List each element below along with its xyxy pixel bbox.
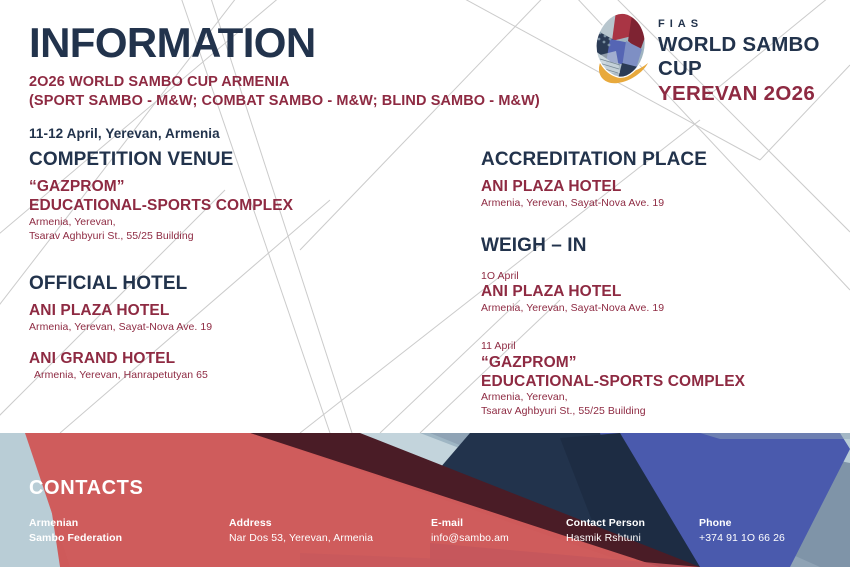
venue-address-line1: Armenia, Yerevan,: [29, 216, 449, 230]
footer-email-label: E-mail: [431, 516, 509, 531]
footer-address-label: Address: [229, 516, 373, 531]
footer-org-line2: Sambo Federation: [29, 531, 122, 546]
hotel-1-name: ANI PLAZA HOTEL: [29, 302, 449, 321]
poster-canvas: INFORMATION 2O26 WORLD SAMBO CUP ARMENIA…: [0, 0, 850, 567]
venue-name-line1: “GAZPROM”: [29, 178, 449, 197]
weigh-in-day2-label: 11 April: [481, 340, 821, 354]
official-hotel-heading: OFFICIAL HOTEL: [29, 274, 449, 295]
logo-text-block: FIAS WORLD SAMBO CUP YEREVAN 2O26: [658, 19, 844, 107]
event-date: 11-12 April, Yerevan, Armenia: [29, 126, 540, 141]
footer-org-block: Armenian Sambo Federation: [29, 516, 122, 546]
weigh-in-day1-address: Armenia, Yerevan, Sayat-Nova Ave. 19: [481, 302, 821, 316]
event-subtitle-line2: (SPORT SAMBO - M&W; COMBAT SAMBO - M&W; …: [29, 92, 540, 111]
footer-org-line1: Armenian: [29, 516, 122, 531]
footer-phone-label: Phone: [699, 516, 785, 531]
contacts-title: CONTACTS: [29, 477, 143, 500]
accreditation-address: Armenia, Yerevan, Sayat-Nova Ave. 19: [481, 197, 821, 211]
header: INFORMATION 2O26 WORLD SAMBO CUP ARMENIA…: [0, 0, 850, 150]
venue-name-line2: EDUCATIONAL-SPORTS COMPLEX: [29, 197, 449, 216]
weigh-in-day2-address-line1: Armenia, Yerevan,: [481, 391, 821, 405]
venue-address-line2: Tsarav Aghbyuri St., 55/25 Building: [29, 230, 449, 244]
weigh-in-day2-name-line2: EDUCATIONAL-SPORTS COMPLEX: [481, 373, 821, 392]
logo-event-text: WORLD SAMBO CUP: [658, 33, 844, 81]
footer-phone-value[interactable]: +374 91 1O 66 26: [699, 531, 785, 546]
footer-address-block: Address Nar Dos 53, Yerevan, Armenia: [229, 516, 373, 546]
footer-email-value[interactable]: info@sambo.am: [431, 531, 509, 546]
footer-contact-person-block: Contact Person Hasmik Rshtuni: [566, 516, 645, 546]
hotel-2-address: Armenia, Yerevan, Hanrapetutyan 65: [29, 369, 449, 383]
page-title: INFORMATION: [29, 22, 540, 64]
left-column: COMPETITION VENUE “GAZPROM” EDUCATIONAL-…: [29, 150, 449, 383]
weigh-in-day2-address-line2: Tsarav Aghbyuri St., 55/25 Building: [481, 405, 821, 419]
weigh-in-day2-name-line1: “GAZPROM”: [481, 354, 821, 373]
weigh-in-day1-name: ANI PLAZA HOTEL: [481, 283, 821, 302]
logo-fias-text: FIAS: [658, 19, 844, 30]
hotel-1-address: Armenia, Yerevan, Sayat-Nova Ave. 19: [29, 321, 449, 335]
accreditation-name: ANI PLAZA HOTEL: [481, 178, 821, 197]
title-block: INFORMATION 2O26 WORLD SAMBO CUP ARMENIA…: [29, 22, 540, 141]
footer-person-value: Hasmik Rshtuni: [566, 531, 645, 546]
footer-person-label: Contact Person: [566, 516, 645, 531]
weigh-in-day1-label: 1O April: [481, 270, 821, 284]
hotel-2-name: ANI GRAND HOTEL: [29, 350, 449, 369]
event-subtitle-line1: 2O26 WORLD SAMBO CUP ARMENIA: [29, 73, 540, 92]
right-column: ACCREDITATION PLACE ANI PLAZA HOTEL Arme…: [481, 150, 821, 419]
accreditation-place-heading: ACCREDITATION PLACE: [481, 150, 821, 171]
footer-content: CONTACTS Armenian Sambo Federation Addre…: [0, 433, 850, 567]
event-subtitle: 2O26 WORLD SAMBO CUP ARMENIA (SPORT SAMB…: [29, 73, 540, 111]
footer: CONTACTS Armenian Sambo Federation Addre…: [0, 433, 850, 567]
logo-lockup: FIAS WORLD SAMBO CUP YEREVAN 2O26: [586, 11, 844, 91]
footer-email-block[interactable]: E-mail info@sambo.am: [431, 516, 509, 546]
competition-venue-heading: COMPETITION VENUE: [29, 150, 449, 171]
weigh-in-heading: WEIGH – IN: [481, 236, 821, 257]
footer-address-value: Nar Dos 53, Yerevan, Armenia: [229, 531, 373, 546]
logo-city-year-text: YEREVAN 2O26: [658, 82, 844, 106]
footer-phone-block[interactable]: Phone +374 91 1O 66 26: [699, 516, 785, 546]
fias-sambo-emblem-icon: [586, 11, 656, 91]
